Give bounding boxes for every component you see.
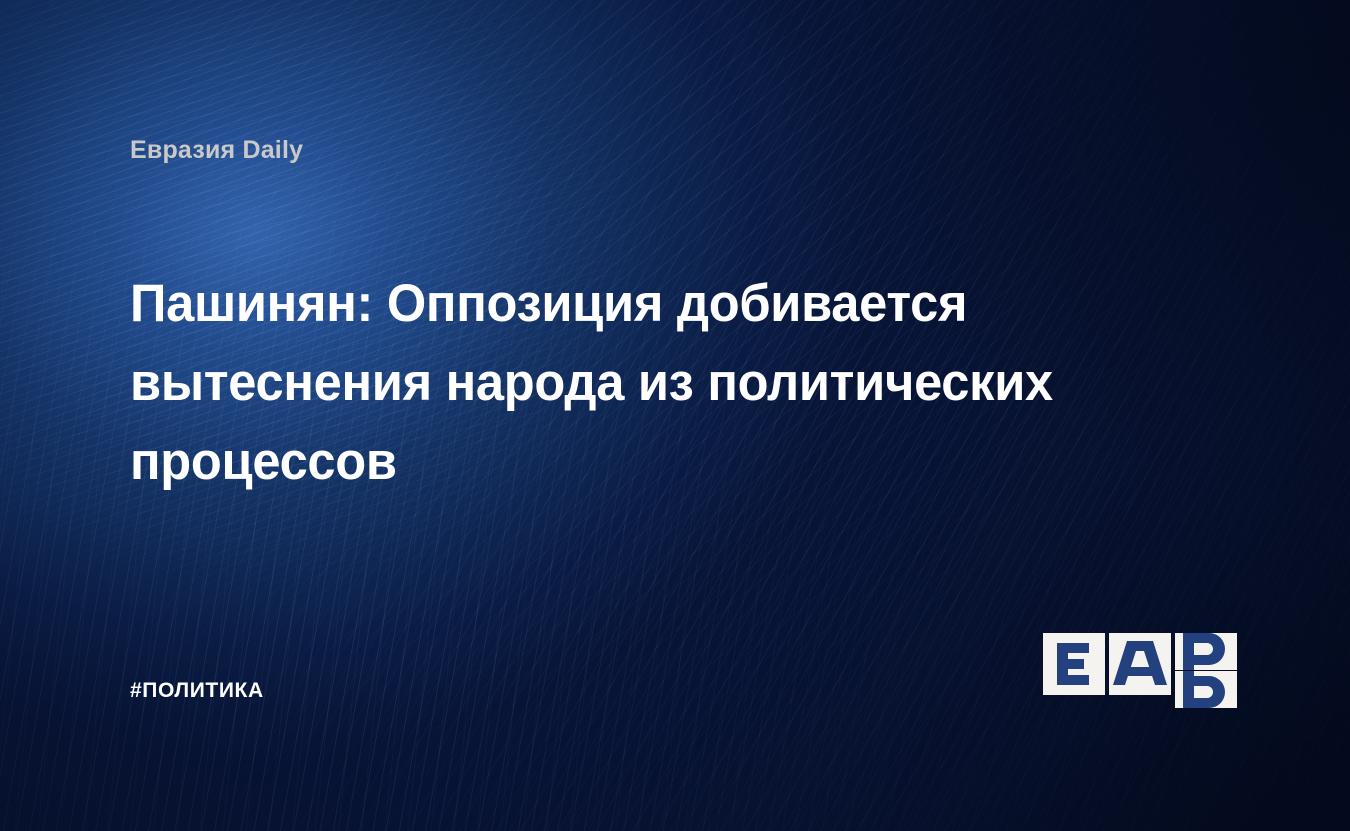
logo-tile-letter-d-upper <box>1175 633 1237 670</box>
article-headline: Пашинян: Оппозиция добивается вытеснения… <box>130 264 1095 501</box>
ead-logo <box>1043 633 1233 709</box>
news-share-card: Евразия Daily Пашинян: Оппозиция добивае… <box>0 0 1350 831</box>
logo-tile-letter-a <box>1109 633 1171 695</box>
logo-tile-letter-e <box>1043 633 1105 695</box>
logo-tile-letter-d-lower <box>1175 671 1237 708</box>
category-hashtag: #ПОЛИТИКА <box>130 679 264 703</box>
site-name: Евразия Daily <box>130 136 303 165</box>
